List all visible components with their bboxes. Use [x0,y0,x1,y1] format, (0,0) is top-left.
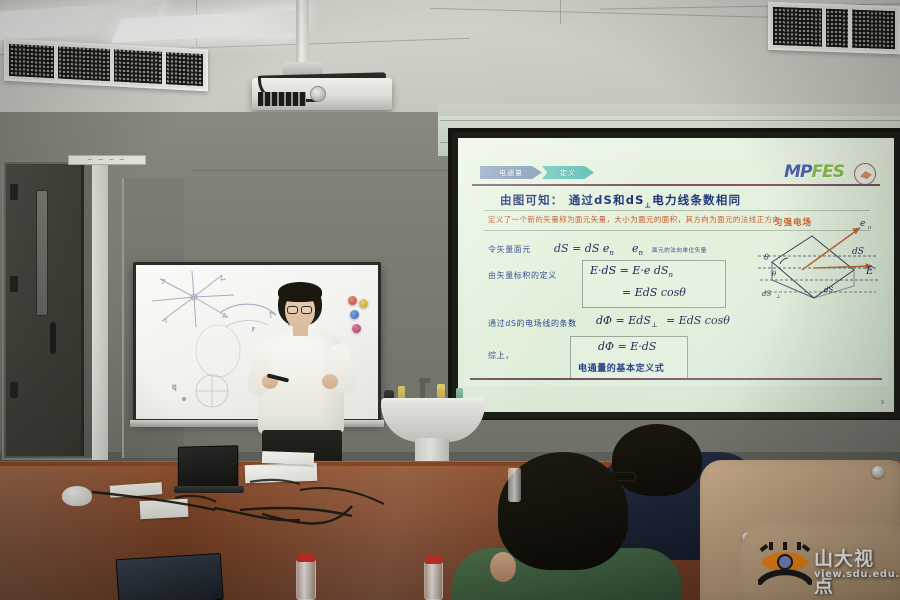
svg-text:dS: dS [762,290,771,298]
slide-line-1-math: dS = dS en [554,242,614,257]
svg-text:q: q [172,383,176,391]
svg-text:θ: θ [772,270,777,278]
slide-line-1-label: 令矢量面元 [488,244,531,255]
projection-screen: 电通量 定义 MPFES 由图可知： 通过dS和dS⊥电力线条数相同 定义了一个… [458,138,894,412]
presenter-hair-front [278,282,322,302]
water-bottle-cap [297,554,315,562]
slide-diagram-svg: e n θ θ dS E dS dS ⊥ [756,214,884,324]
glasses-right-lens-icon [301,306,312,314]
wall-seam [190,170,450,171]
whiteboard-magnet[interactable] [359,299,368,308]
slide-line-4-math: dΦ = E·dS [598,340,656,353]
whiteboard-magnet[interactable] [352,324,361,333]
ceiling-grid-line [560,0,561,24]
mpfes-logo: MPFES [784,162,844,182]
door-hinge-icon [10,276,18,292]
vent-slats [9,44,203,86]
whiteboard-magnet[interactable] [348,296,357,305]
svg-text:dS: dS [852,247,864,257]
slide-line-3-math-tail: = EdS cosθ [666,314,730,327]
door-hinge-icon [10,382,18,398]
vent-divider [110,46,114,84]
slide-line-2-math-1-sub: n [668,271,673,279]
door-sign-text: — — — — [69,156,145,164]
door-post [92,160,108,460]
slide-line-2-math-1-text: E·dS = E·e dS [590,264,668,277]
svg-text:r: r [252,326,255,333]
slide-line-1-note: 面元的法向单位矢量 [652,246,707,254]
slide-line-3-math-text: dΦ = EdS [596,314,651,327]
vent-divider [54,43,58,81]
audience-bottle [508,468,521,502]
svg-text:dS: dS [824,286,833,294]
slide-diagram: 匀强电场 [756,214,884,324]
svg-text:n: n [868,225,871,231]
water-bottle[interactable] [424,562,443,600]
projector-mount-pole [296,0,309,66]
slide-line-4-label: 综上， [488,350,514,361]
slide-breadcrumb-2: 定义 [542,166,594,179]
water-bottle-cap [425,556,442,564]
svg-text:⊥: ⊥ [776,294,781,300]
whiteboard-marker-tray [130,420,384,427]
door-sign: — — — — [68,155,146,165]
chair-button-stud [872,466,884,478]
watermark: 山大视点 view.sdu.edu.cn [756,540,888,592]
slide-title-tail: 电力线条数相同 [652,193,741,207]
slide-line-1-note-sub: n [639,249,644,257]
slide-header-rule [472,184,880,186]
glasses-left-lens-icon [287,306,298,314]
attendee-back-head [612,424,702,496]
slide-line-1-math-sub: n [609,249,614,257]
vent-slats [773,7,895,49]
slide-line-2-math-2: = EdS cosθ [622,286,686,299]
mpfes-logo-mp: MP [784,162,811,182]
hvac-vent-right [768,2,900,55]
vent-divider [162,49,166,87]
svg-text:θ: θ [764,253,769,262]
water-bottle[interactable] [296,560,316,600]
projector-lens [310,86,326,102]
presentation-slide: 电通量 定义 MPFES 由图可知： 通过dS和dS⊥电力线条数相同 定义了一个… [464,158,888,386]
diagram-vector-en: e [860,219,865,229]
slide-line-2-label: 由矢量标积的定义 [488,270,557,281]
door-vision-panel [36,190,48,316]
laptop-screen-foreground[interactable] [115,553,223,600]
vent-divider [848,6,852,50]
slide-line-3-math-sub: ⊥ [651,321,658,329]
slide-title-main: 由图可知： 通过dS和dS [500,193,645,207]
presenter-right-hand [322,374,338,389]
lecture-room-scene: — — — — [0,0,900,600]
svg-text:E: E [865,266,874,277]
slide-line-1-math-text: dS = dS e [554,242,609,255]
mpfes-logo-fes: FES [812,162,844,182]
slide-line-1-note-symbol: en [632,242,643,257]
whiteboard-magnet[interactable] [350,310,359,319]
wall-seam [440,120,900,121]
slide-title: 由图可知： 通过dS和dS⊥电力线条数相同 [500,192,741,209]
eye-logo-icon [758,542,812,586]
circular-seal-icon [854,163,876,185]
vent-divider [822,6,826,50]
slide-line-2-math-1: E·dS = E·e dSn [590,264,673,279]
slide-rule [484,210,870,211]
watermark-url: view.sdu.edu.cn [814,569,900,580]
slide-line-3-label: 通过dS的电场线的条数 [488,318,577,329]
door-handle[interactable] [50,322,56,354]
slide-line-3-math: dΦ = EdS⊥ = EdS cosθ [596,314,730,329]
door-hinge-icon [10,184,18,200]
attendee-front-ear [490,552,516,582]
slide-page-number: 9 [881,400,884,406]
slide-conclusion-caption: 电通量的基本定义式 [578,361,664,374]
slide-breadcrumb-1: 电通量 [480,166,542,179]
projector-ports [258,92,306,106]
slide-footer-rule [470,378,882,380]
